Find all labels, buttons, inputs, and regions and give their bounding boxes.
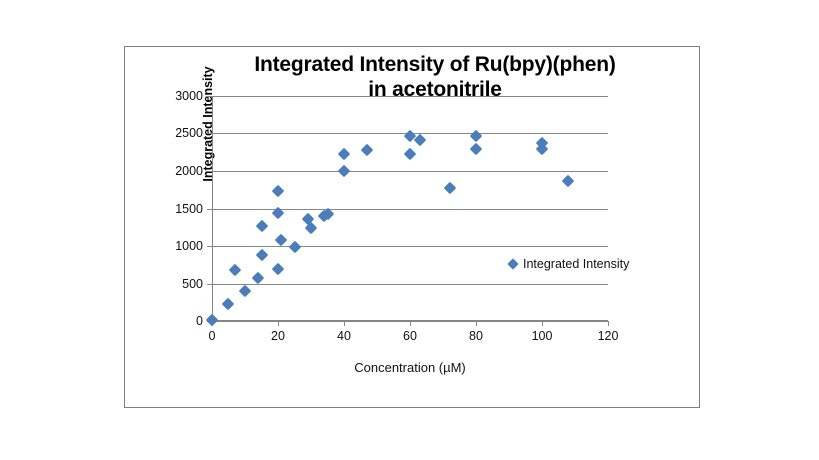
gridline	[212, 284, 608, 285]
data-point	[255, 248, 268, 261]
data-point	[229, 264, 242, 277]
data-point	[470, 142, 483, 155]
data-point	[272, 185, 285, 198]
x-tick-mark	[476, 321, 477, 326]
x-tick-label: 40	[337, 329, 351, 343]
gridline	[212, 171, 608, 172]
y-tick-label: 1000	[175, 239, 203, 253]
y-tick-label: 2000	[175, 164, 203, 178]
data-point	[239, 285, 252, 298]
y-tick-label: 500	[182, 277, 203, 291]
data-point	[288, 241, 301, 254]
data-point	[443, 182, 456, 195]
data-point	[272, 262, 285, 275]
data-point	[338, 147, 351, 160]
y-tick-mark	[207, 133, 212, 134]
data-point	[562, 174, 575, 187]
data-point	[338, 164, 351, 177]
chart-title-line-1: Integrated Intensity of Ru(bpy)(phen)	[254, 53, 615, 76]
data-point	[255, 220, 268, 233]
legend-diamond-icon	[507, 258, 518, 269]
x-tick-label: 20	[271, 329, 285, 343]
data-point	[275, 233, 288, 246]
gridline	[212, 209, 608, 210]
x-tick-mark	[410, 321, 411, 326]
y-tick-label: 1500	[175, 202, 203, 216]
y-tick-label: 3000	[175, 89, 203, 103]
x-tick-label: 100	[532, 329, 553, 343]
x-tick-label: 0	[209, 329, 216, 343]
x-tick-label: 120	[598, 329, 619, 343]
plot-area: 050010001500200025003000 020406080100120	[212, 96, 608, 321]
y-tick-label: 0	[196, 314, 203, 328]
y-tick-mark	[207, 96, 212, 97]
legend-label: Integrated Intensity	[523, 257, 629, 271]
x-tick-label: 60	[403, 329, 417, 343]
chart-screenshot: Integrated Intensity of Ru(bpy)(phen) in…	[0, 0, 819, 460]
chart-frame: Integrated Intensity of Ru(bpy)(phen) in…	[124, 46, 700, 408]
y-tick-mark	[207, 171, 212, 172]
gridline	[212, 246, 608, 247]
x-axis-title: Concentration (µM)	[212, 360, 608, 375]
x-tick-label: 80	[469, 329, 483, 343]
data-point	[206, 314, 219, 327]
x-tick-mark	[278, 321, 279, 326]
chart-legend: Integrated Intensity	[509, 257, 629, 271]
x-tick-mark	[344, 321, 345, 326]
gridline	[212, 96, 608, 97]
data-point	[470, 130, 483, 143]
data-point	[222, 298, 235, 311]
data-point	[404, 148, 417, 161]
x-tick-mark	[608, 321, 609, 326]
y-tick-label: 2500	[175, 126, 203, 140]
y-tick-mark	[207, 284, 212, 285]
y-tick-mark	[207, 209, 212, 210]
y-tick-mark	[207, 246, 212, 247]
data-point	[361, 144, 374, 157]
x-tick-mark	[542, 321, 543, 326]
